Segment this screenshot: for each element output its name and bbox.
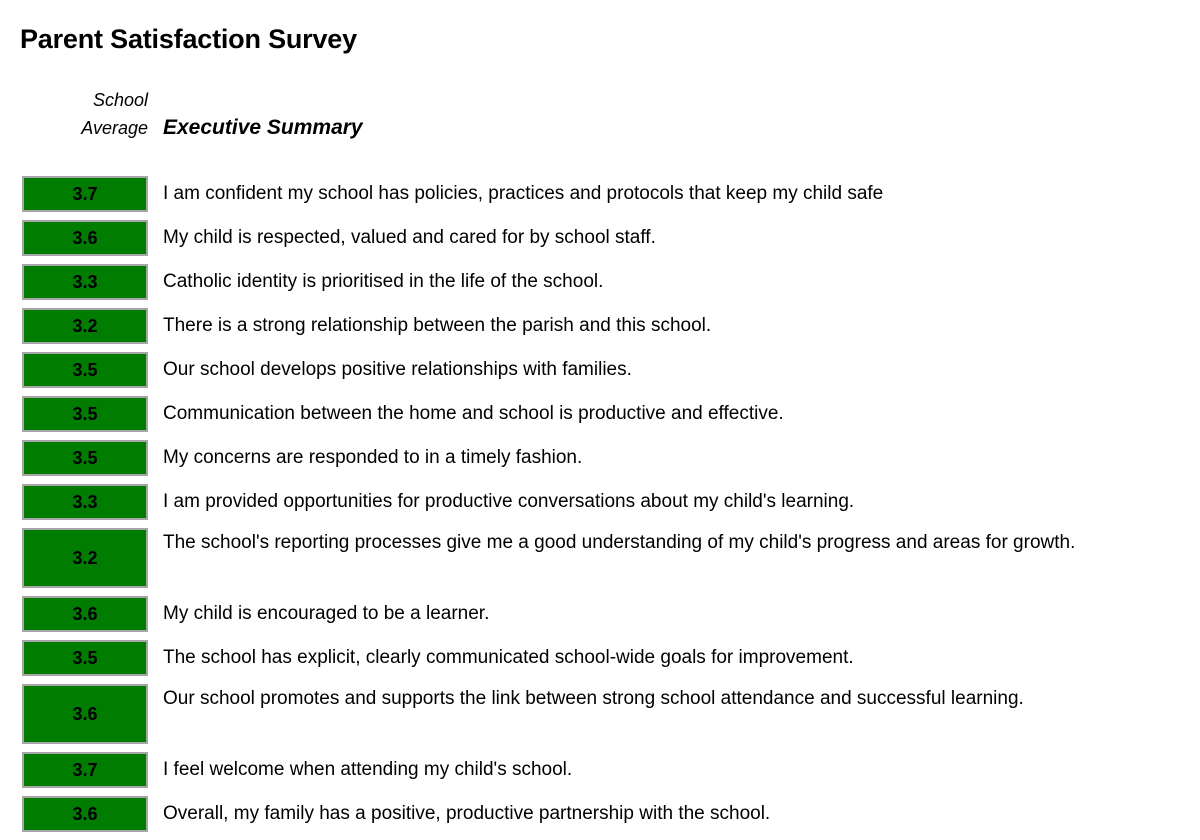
school-average-cell-wrap: 3.5 bbox=[22, 396, 148, 432]
school-average-value: 3.5 bbox=[22, 396, 148, 432]
table-row: 3.6Our school promotes and supports the … bbox=[0, 684, 1200, 744]
school-average-cell-wrap: 3.5 bbox=[22, 440, 148, 476]
survey-statement-text: Communication between the home and schoo… bbox=[163, 400, 784, 428]
survey-statement-text: The school's reporting processes give me… bbox=[163, 529, 1075, 557]
table-row: 3.5Communication between the home and sc… bbox=[0, 396, 1200, 432]
column-header-school-average-line2: Average bbox=[22, 114, 148, 142]
school-average-cell-wrap: 3.6 bbox=[22, 220, 148, 256]
school-average-cell-wrap: 3.3 bbox=[22, 264, 148, 300]
school-average-cell-wrap: 3.3 bbox=[22, 484, 148, 520]
survey-statement: My concerns are responded to in a timely… bbox=[148, 440, 1200, 476]
school-average-cell-wrap: 3.5 bbox=[22, 352, 148, 388]
survey-statement: My child is encouraged to be a learner. bbox=[148, 596, 1200, 632]
table-row: 3.6My child is encouraged to be a learne… bbox=[0, 596, 1200, 632]
survey-statement-text: Our school promotes and supports the lin… bbox=[163, 685, 1024, 713]
table-row: 3.2There is a strong relationship betwee… bbox=[0, 308, 1200, 344]
column-headers: School Average Executive Summary bbox=[0, 86, 1200, 148]
survey-statement-text: Our school develops positive relationshi… bbox=[163, 356, 632, 384]
table-row: 3.5Our school develops positive relation… bbox=[0, 352, 1200, 388]
school-average-cell-wrap: 3.6 bbox=[22, 596, 148, 632]
page-title: Parent Satisfaction Survey bbox=[20, 22, 357, 56]
school-average-value: 3.2 bbox=[22, 308, 148, 344]
school-average-value: 3.5 bbox=[22, 440, 148, 476]
survey-statement: My child is respected, valued and cared … bbox=[148, 220, 1200, 256]
survey-statement: I am confident my school has policies, p… bbox=[148, 176, 1200, 212]
school-average-cell-wrap: 3.2 bbox=[22, 308, 148, 344]
survey-statement: Our school develops positive relationshi… bbox=[148, 352, 1200, 388]
survey-statement-text: I am provided opportunities for producti… bbox=[163, 488, 854, 516]
school-average-value: 3.2 bbox=[22, 528, 148, 588]
school-average-value: 3.6 bbox=[22, 596, 148, 632]
school-average-cell-wrap: 3.5 bbox=[22, 640, 148, 676]
survey-statement-text: My child is respected, valued and cared … bbox=[163, 224, 656, 252]
survey-statement-text: My concerns are responded to in a timely… bbox=[163, 444, 582, 472]
survey-statement-text: My child is encouraged to be a learner. bbox=[163, 600, 489, 628]
column-header-school-average-line1: School bbox=[22, 86, 148, 114]
table-row: 3.3I am provided opportunities for produ… bbox=[0, 484, 1200, 520]
survey-statement-text: I am confident my school has policies, p… bbox=[163, 180, 883, 208]
survey-statement-text: Overall, my family has a positive, produ… bbox=[163, 800, 770, 828]
school-average-value: 3.6 bbox=[22, 684, 148, 744]
survey-statement-text: The school has explicit, clearly communi… bbox=[163, 644, 854, 672]
table-row: 3.5The school has explicit, clearly comm… bbox=[0, 640, 1200, 676]
survey-results-table: 3.7I am confident my school has policies… bbox=[0, 176, 1200, 840]
table-row: 3.5My concerns are responded to in a tim… bbox=[0, 440, 1200, 476]
school-average-cell-wrap: 3.2 bbox=[22, 528, 148, 588]
school-average-cell-wrap: 3.7 bbox=[22, 752, 148, 788]
school-average-value: 3.3 bbox=[22, 484, 148, 520]
survey-statement-text: There is a strong relationship between t… bbox=[163, 312, 711, 340]
school-average-cell-wrap: 3.6 bbox=[22, 796, 148, 832]
table-row: 3.7I am confident my school has policies… bbox=[0, 176, 1200, 212]
school-average-value: 3.7 bbox=[22, 176, 148, 212]
table-row: 3.6My child is respected, valued and car… bbox=[0, 220, 1200, 256]
survey-statement: I feel welcome when attending my child's… bbox=[148, 752, 1200, 788]
survey-statement: Catholic identity is prioritised in the … bbox=[148, 264, 1200, 300]
survey-statement: Our school promotes and supports the lin… bbox=[148, 684, 1200, 744]
school-average-value: 3.7 bbox=[22, 752, 148, 788]
survey-statement: Communication between the home and schoo… bbox=[148, 396, 1200, 432]
school-average-value: 3.6 bbox=[22, 796, 148, 832]
table-row: 3.2The school's reporting processes give… bbox=[0, 528, 1200, 588]
survey-statement: I am provided opportunities for producti… bbox=[148, 484, 1200, 520]
school-average-value: 3.3 bbox=[22, 264, 148, 300]
school-average-cell-wrap: 3.7 bbox=[22, 176, 148, 212]
survey-report-page: Parent Satisfaction Survey School Averag… bbox=[0, 0, 1200, 780]
table-row: 3.6Overall, my family has a positive, pr… bbox=[0, 796, 1200, 832]
survey-statement: Overall, my family has a positive, produ… bbox=[148, 796, 1200, 832]
column-header-executive-summary: Executive Summary bbox=[163, 114, 363, 142]
school-average-value: 3.5 bbox=[22, 352, 148, 388]
survey-statement: The school has explicit, clearly communi… bbox=[148, 640, 1200, 676]
survey-statement: There is a strong relationship between t… bbox=[148, 308, 1200, 344]
school-average-cell-wrap: 3.6 bbox=[22, 684, 148, 744]
school-average-value: 3.5 bbox=[22, 640, 148, 676]
table-row: 3.7I feel welcome when attending my chil… bbox=[0, 752, 1200, 788]
column-header-school-average: School Average bbox=[22, 86, 148, 142]
table-row: 3.3Catholic identity is prioritised in t… bbox=[0, 264, 1200, 300]
school-average-value: 3.6 bbox=[22, 220, 148, 256]
survey-statement: The school's reporting processes give me… bbox=[148, 528, 1200, 588]
survey-statement-text: Catholic identity is prioritised in the … bbox=[163, 268, 603, 296]
